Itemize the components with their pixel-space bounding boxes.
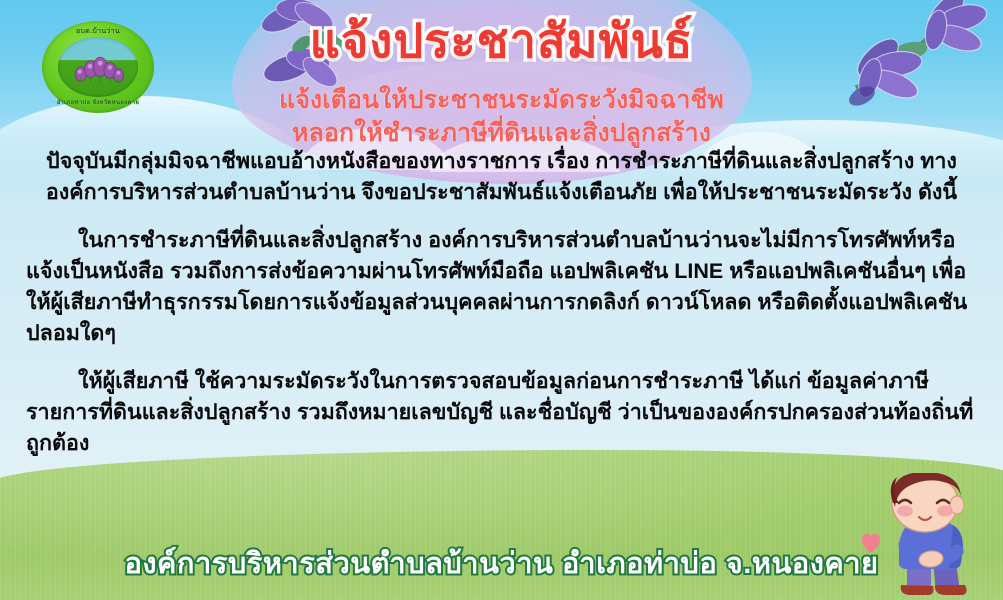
pink-heart-icon [859,532,883,554]
subtitle-line-1: แจ้งเตือนให้ประชาชนระมัดระวังมิจฉาชีพ [0,84,1003,117]
paragraph-2: ในการชำระภาษีที่ดินและสิ่งปลูกสร้าง องค์… [26,225,977,348]
page-title: แจ้งประชาสัมพันธ์ [0,17,1003,65]
announcement-poster: อบต.บ้านว่าน [0,0,1003,600]
announcement-body: ปัจจุบันมีกลุ่มมิจฉาชีพแอบอ้างหนังสือของ… [26,146,977,459]
cartoon-boy-wai-icon [849,473,999,598]
subtitle-line-2: หลอกให้ชำระภาษีที่ดินและสิ่งปลูกสร้าง [0,117,1003,150]
paragraph-1: ปัจจุบันมีกลุ่มมิจฉาชีพแอบอ้างหนังสือของ… [26,146,977,207]
paragraph-3: ให้ผู้เสียภาษี ใช้ความระมัดระวังในการตรว… [26,366,977,458]
page-subtitle: แจ้งเตือนให้ประชาชนระมัดระวังมิจฉาชีพ หล… [0,84,1003,149]
